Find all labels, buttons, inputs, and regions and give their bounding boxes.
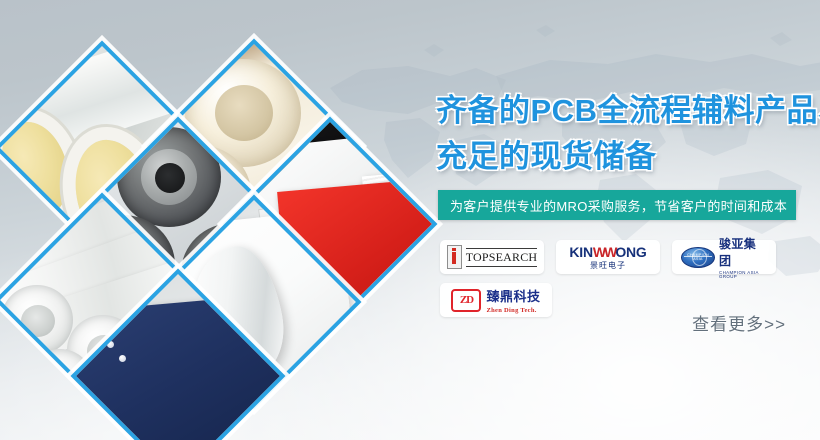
banner-content: 齐备的PCB全流程辅料产品、 充足的现货储备 为客户提供专业的MRO采购服务，节…: [432, 0, 820, 440]
promo-banner: JIE 齐备的PCB全流程辅料产品、 充足的现货储备 为客户: [0, 0, 820, 440]
champion-asia-globe-icon: CHAMPION ASIA: [681, 247, 715, 268]
product-tile-collage: JIE: [0, 0, 440, 440]
banner-subtitle-text: 为客户提供专业的MRO采购服务，节省客户的时间和成本: [438, 196, 787, 215]
view-more-link[interactable]: 查看更多>>: [692, 310, 786, 335]
client-logo-zhen-ding[interactable]: ZD 臻鼎科技 Zhen Ding Tech.: [440, 283, 552, 317]
client-logo-champion-asia[interactable]: CHAMPION ASIA 骏亚集团 CHAMPION ASIA GROUP: [672, 240, 776, 274]
kinwong-chinese-name: 景旺电子: [569, 262, 646, 270]
banner-subtitle-bar: 为客户提供专业的MRO采购服务，节省客户的时间和成本: [438, 190, 796, 220]
headline-line-1: 齐备的PCB全流程辅料产品、: [436, 93, 820, 128]
headline-line-2: 充足的现货储备: [436, 134, 820, 180]
zhen-ding-chinese-name: 臻鼎科技: [486, 286, 540, 305]
kinwong-wordmark: KINWWONG: [569, 244, 646, 260]
client-logo-row-1: TOPSEARCH KINWWONG 景旺电子 CHAMPION ASIA: [440, 240, 812, 274]
client-logo-topsearch[interactable]: TOPSEARCH: [440, 240, 544, 274]
kinwong-wordmark-head: KIN: [569, 244, 593, 260]
champion-asia-chinese-name: 骏亚集团: [719, 235, 767, 269]
kinwong-wordmark-tail: ONG: [615, 244, 646, 260]
topsearch-i-mark-icon: [447, 245, 462, 269]
champion-asia-globe-label: CHAMPION ASIA: [682, 253, 714, 261]
kinwong-wordmark-accent: WW: [593, 244, 615, 260]
zhen-ding-mark-icon: ZD: [451, 289, 481, 312]
topsearch-wordmark: TOPSEARCH: [466, 248, 538, 267]
champion-asia-english-name: CHAMPION ASIA GROUP: [719, 271, 767, 280]
zhen-ding-english-name: Zhen Ding Tech.: [486, 307, 540, 314]
client-logo-kinwong[interactable]: KINWWONG 景旺电子: [556, 240, 660, 274]
banner-headline: 齐备的PCB全流程辅料产品、 充足的现货储备: [436, 88, 820, 180]
